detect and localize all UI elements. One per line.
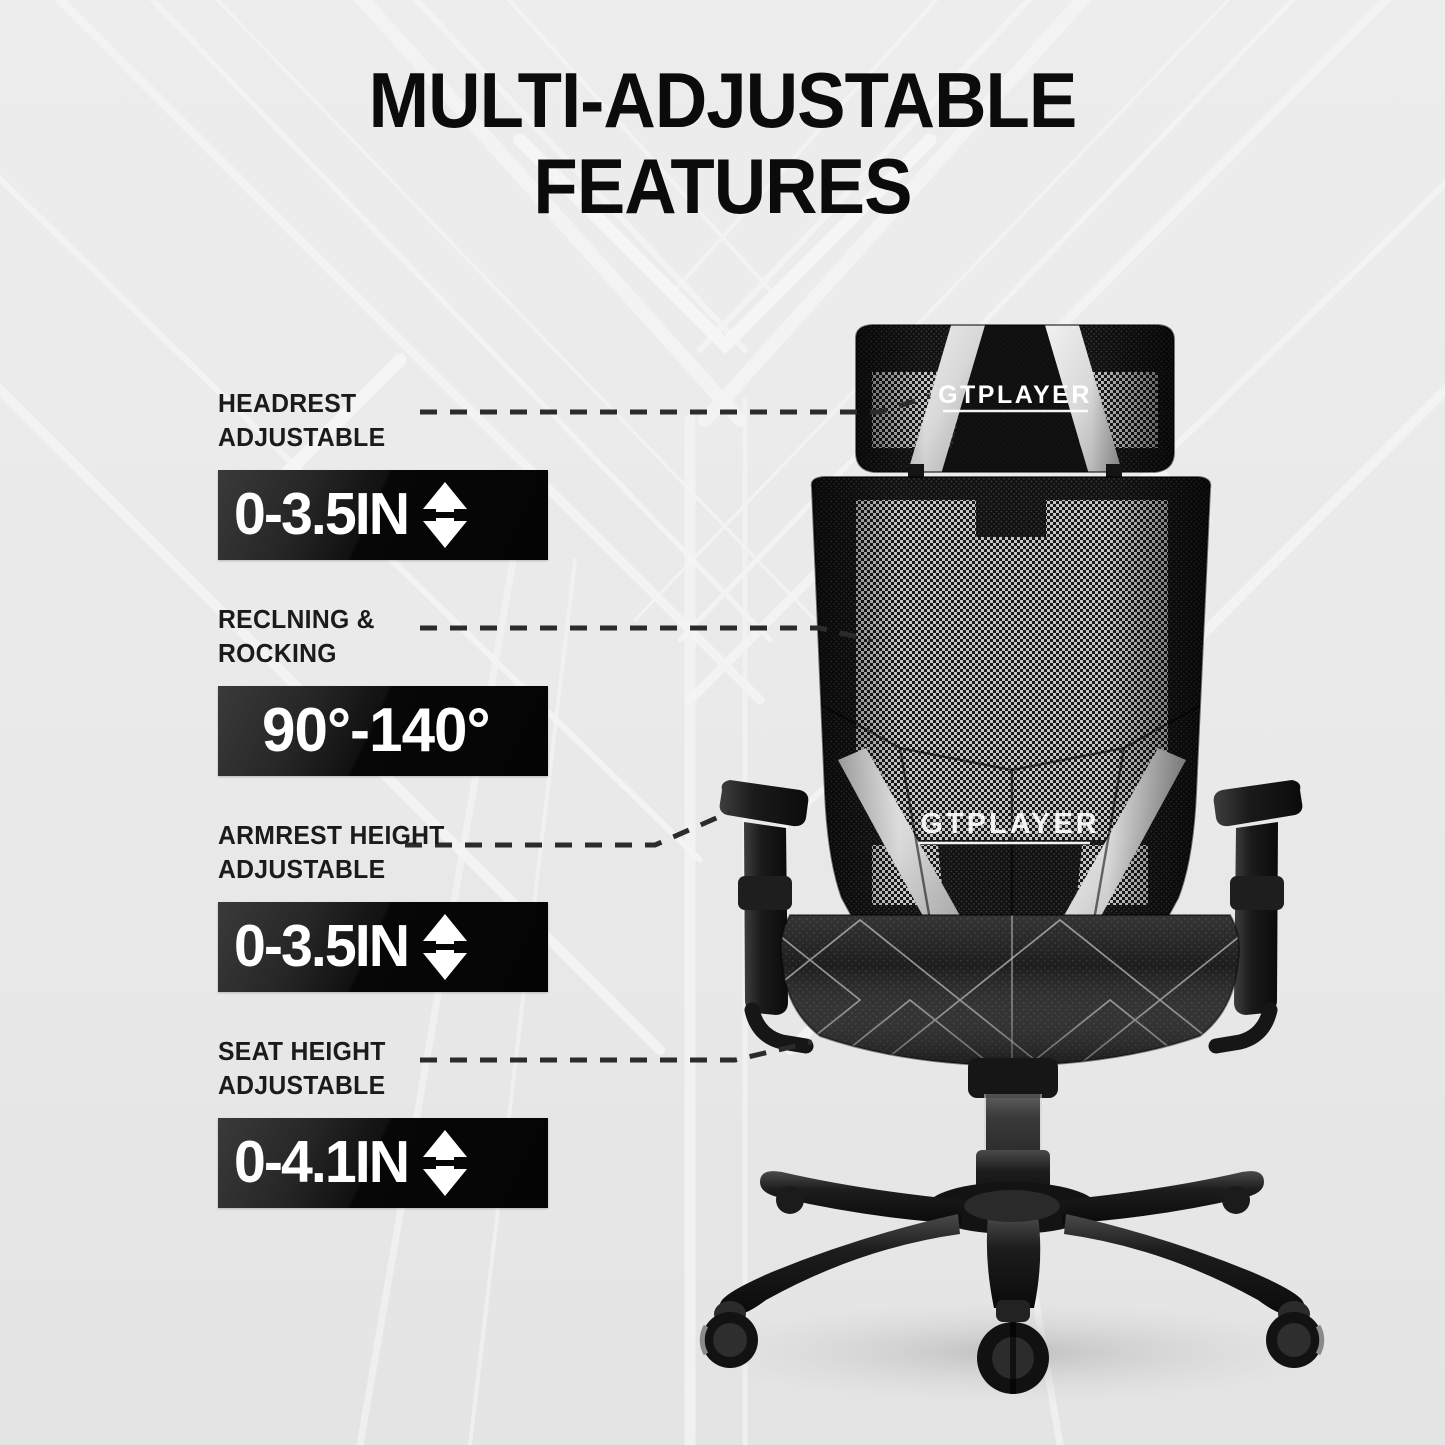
feature-headrest: HEADREST ADJUSTABLE 0-3.5IN [218,388,548,560]
feature-armrest: ARMREST HEIGHT ADJUSTABLE 0-3.5IN [218,820,548,992]
infographic-canvas: MULTI-ADJUSTABLE FEATURES [0,0,1445,1445]
chair-base-legs [719,1171,1305,1316]
feature-reclining: RECLNING & ROCKING 90°-140° [218,604,548,776]
feature-reclining-value: 90°-140° [262,700,490,762]
chair-backrest: GTPLAYER [810,477,1212,940]
feature-reclining-label: RECLNING & ROCKING [218,604,538,672]
feature-seat-height-badge: 0-4.1IN [218,1118,548,1208]
feature-armrest-label: ARMREST HEIGHT ADJUSTABLE [218,820,538,888]
chair-armrest-right [1214,780,1303,1046]
up-down-arrow-icon [417,911,473,983]
feature-headrest-value: 0-3.5IN [234,485,408,544]
feature-seat-height-value: 0-4.1IN [234,1133,408,1192]
chair-headrest: GTPLAYER [856,322,1174,478]
feature-seat-height-label: SEAT HEIGHT ADJUSTABLE [218,1036,538,1104]
backrest-brand-logo: GTPLAYER [920,808,1099,840]
feature-reclining-badge: 90°-140° [218,686,548,776]
up-down-arrow-icon [417,1127,473,1199]
feature-seat-height: SEAT HEIGHT ADJUSTABLE 0-4.1IN [218,1036,548,1208]
up-down-arrow-icon [417,479,473,551]
headrest-brand-logo: GTPLAYER [938,381,1092,409]
feature-armrest-value: 0-3.5IN [234,917,408,976]
feature-headrest-label: HEADREST ADJUSTABLE [218,388,538,456]
feature-armrest-badge: 0-3.5IN [218,902,548,992]
feature-headrest-badge: 0-3.5IN [218,470,548,560]
office-chair-product-image: GTPLAYER [0,0,1445,1445]
